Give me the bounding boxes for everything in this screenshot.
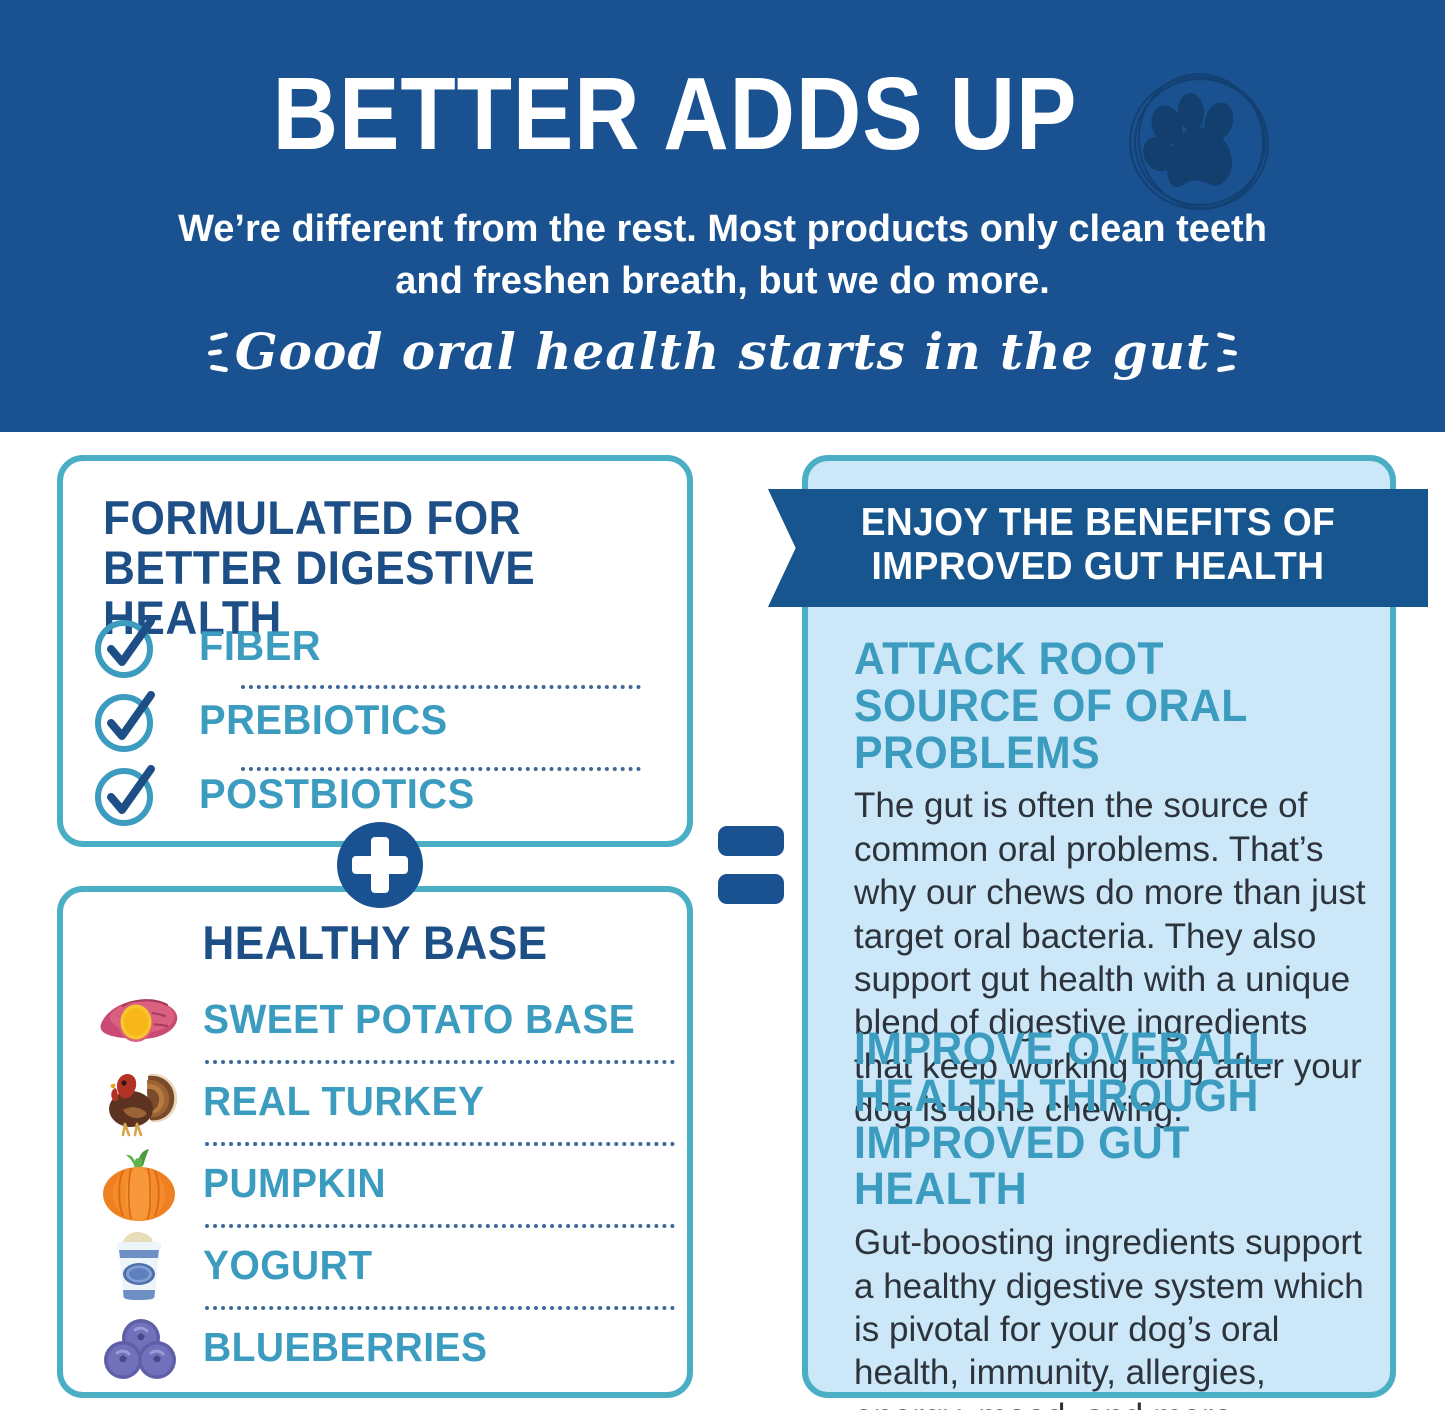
benefit-body: Gut-boosting ingredients support a healt… [854,1221,1374,1410]
ingredient-list: SWEET POTATO BASE [93,978,673,1388]
list-item-label: PUMPKIN [203,1160,386,1207]
healthy-base-card-title: HEALTHY BASE [82,918,669,968]
list-item-label: FIBER [199,622,321,670]
list-item-label: SWEET POTATO BASE [203,996,635,1043]
blueberries-icon [93,1308,185,1386]
list-item: PREBIOTICS [91,683,671,757]
yogurt-tub-icon [93,1226,185,1304]
benefit-title: IMPROVE OVERALL HEALTH THROUGH IMPROVED … [854,1026,1348,1213]
turkey-icon [93,1062,185,1140]
sweet-potato-icon [93,980,185,1058]
equals-sign-icon [718,826,784,904]
list-item-label: POSTBIOTICS [199,770,475,818]
list-item: SWEET POTATO BASE [93,978,673,1060]
check-circle-icon [91,759,161,829]
list-item: BLUEBERRIES [93,1306,673,1388]
plus-icon [337,822,423,908]
script-dash-right-icon [1215,326,1239,378]
ribbon-title: ENJOY THE BENEFITS OF IMPROVED GUT HEALT… [785,501,1412,588]
list-item: POSTBIOTICS [91,757,671,831]
benefits-ribbon: ENJOY THE BENEFITS OF IMPROVED GUT HEALT… [768,489,1428,607]
benefit-title: ATTACK ROOT SOURCE OF ORAL PROBLEMS [854,636,1348,776]
header-subtitle: We’re different from the rest. Most prod… [173,203,1273,308]
check-circle-icon [91,685,161,755]
paw-print-icon [1120,62,1280,222]
list-item: FIBER [91,609,671,683]
formulated-card: FORMULATED FOR BETTER DIGESTIVE HEALTH F… [57,455,693,847]
header-banner: BETTER ADDS UP We’re different from the … [0,0,1445,432]
pumpkin-icon [93,1144,185,1222]
list-item-label: BLUEBERRIES [203,1324,487,1371]
header-script-wrapper: Good oral health starts in the gut [0,322,1445,381]
list-item-label: PREBIOTICS [199,696,448,744]
list-item: REAL TURKEY [93,1060,673,1142]
list-item-label: REAL TURKEY [203,1078,485,1125]
check-circle-icon [91,611,161,681]
benefit-block: IMPROVE OVERALL HEALTH THROUGH IMPROVED … [854,1026,1374,1410]
list-item: PUMPKIN [93,1142,673,1224]
infographic-page: BETTER ADDS UP We’re different from the … [0,0,1445,1410]
healthy-base-card: HEALTHY BASE SWEET POTATO B [57,886,693,1398]
header-script-line: Good oral health starts in the gut [235,322,1210,381]
formulated-checklist: FIBER PREBIOTICS [91,609,671,831]
list-item: YOGURT [93,1224,673,1306]
list-item-label: YOGURT [203,1242,372,1289]
script-dash-left-icon [206,326,230,378]
